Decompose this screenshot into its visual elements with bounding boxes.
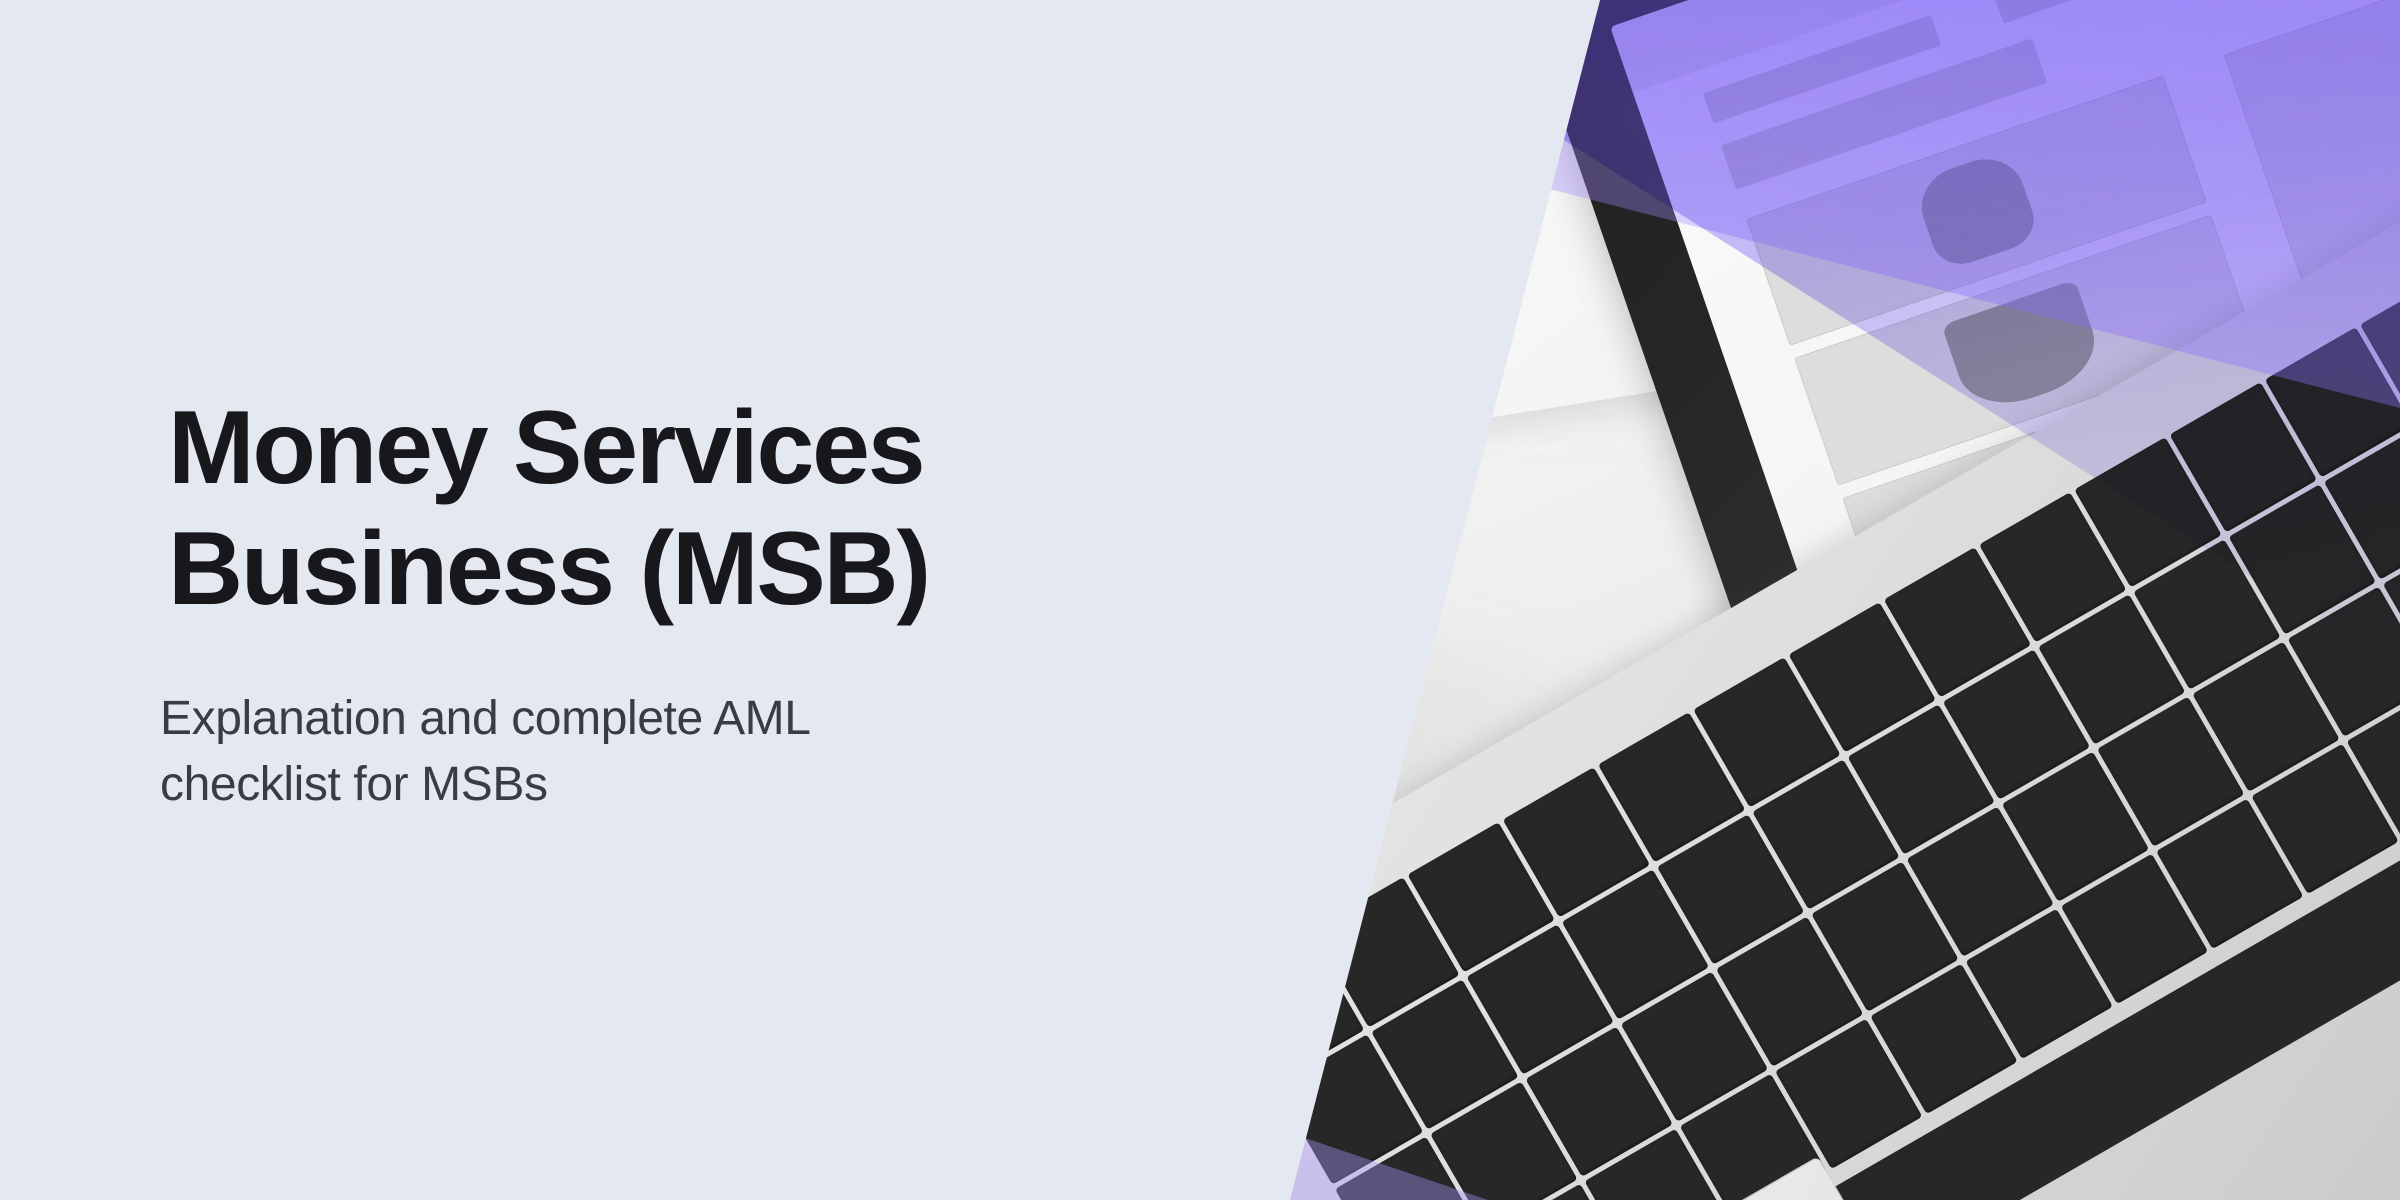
- page-title: Money Services Business (MSB): [168, 388, 1148, 629]
- page-subtitle: Explanation and complete AML checklist f…: [160, 686, 920, 818]
- hero-text-column: Money Services Business (MSB) Explanatio…: [0, 0, 1290, 1200]
- hero-banner: Money Services Business (MSB) Explanatio…: [0, 0, 2400, 1200]
